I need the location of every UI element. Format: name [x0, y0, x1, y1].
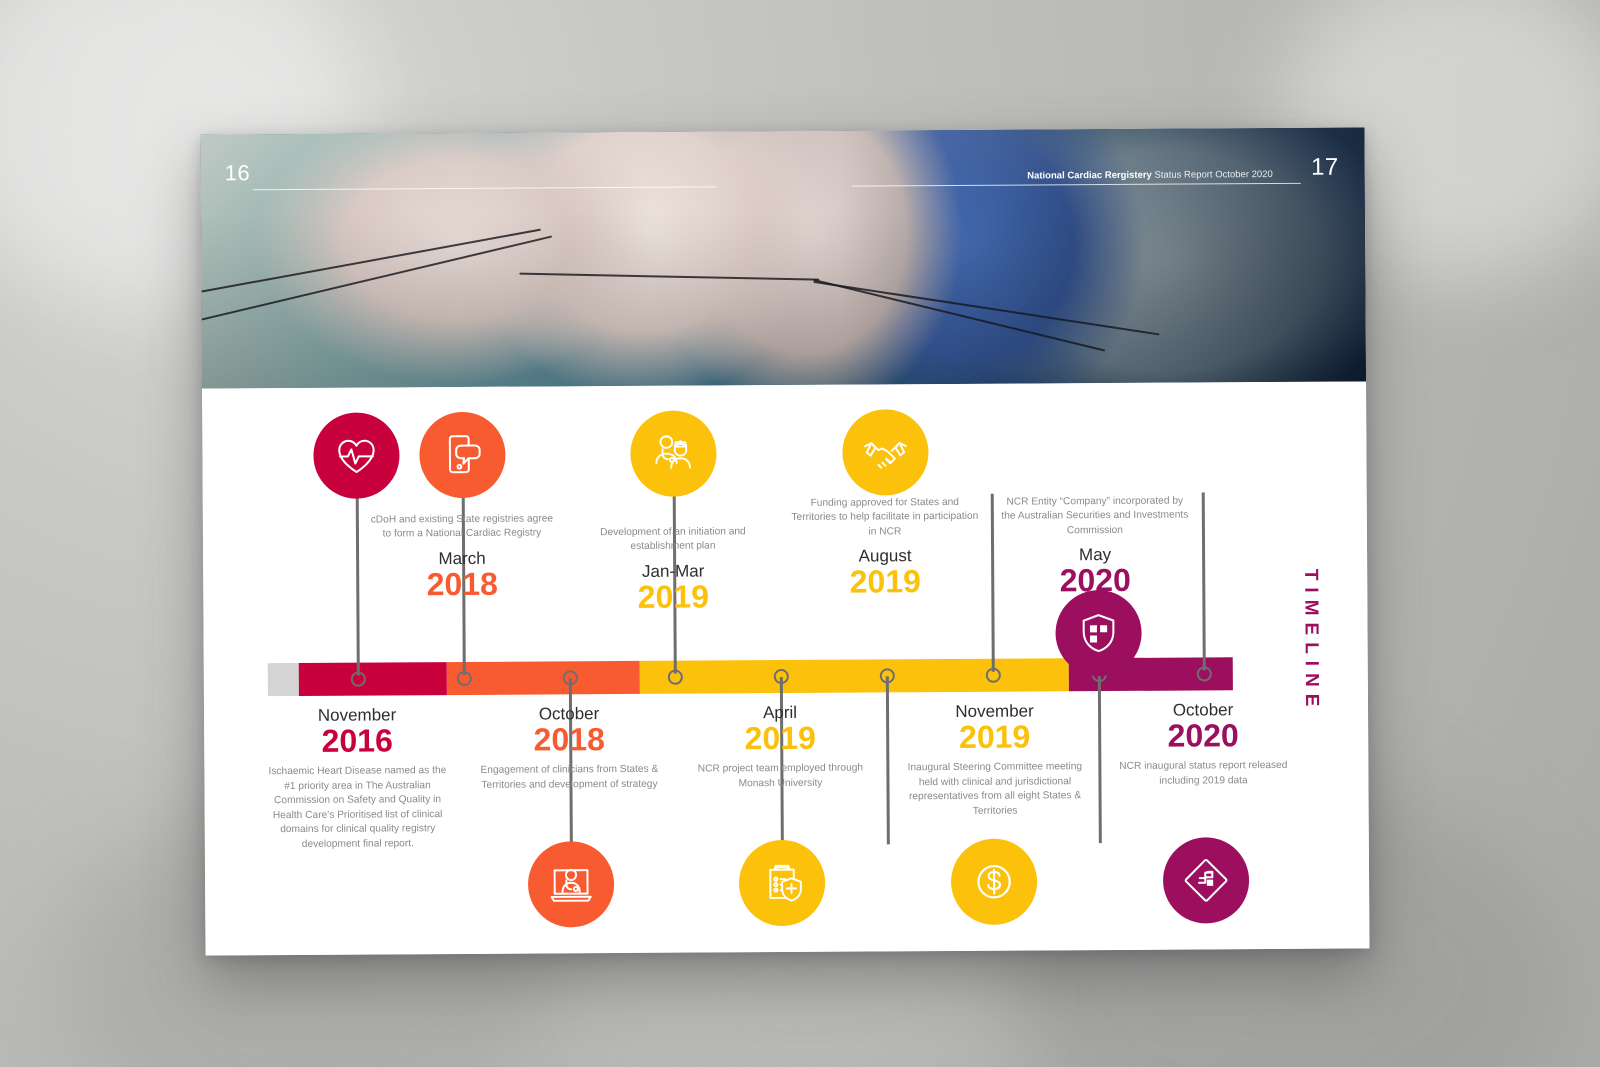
doctor-nurse-icon [648, 429, 698, 479]
stem-nov-2019 [991, 494, 995, 672]
telehealth-doctor-icon [546, 859, 596, 909]
milestone-description: Inaugural Steering Committee meeting hel… [897, 760, 1092, 819]
running-head: National Cardiac Rergistery Status Repor… [1027, 169, 1273, 181]
icon-bubble-mar-2018[interactable] [419, 412, 506, 499]
timeline-figure: TIMELINE [202, 381, 1369, 955]
milestone-year: 2018 [367, 567, 557, 602]
knob-nov-2016[interactable] [351, 672, 366, 687]
photo-overlay [201, 127, 1367, 388]
knob-aug-2019[interactable] [880, 668, 895, 683]
icon-bubble-aug-2019[interactable] [842, 409, 929, 496]
milestone-description: NCR project team employed through Monash… [685, 762, 875, 792]
milestone-may-2020: NCR Entity “Company” incorporated by the… [1000, 495, 1191, 599]
milestone-description: NCR Entity “Company” incorporated by the… [1000, 495, 1190, 540]
desk-backdrop: 16 National Cardiac Rergistery Status Re… [0, 0, 1600, 1067]
milestone-mar-2018: cDoH and existing State registries agree… [367, 512, 558, 601]
milestone-year: 2019 [790, 565, 980, 600]
milestone-description: Funding approved for States and Territor… [790, 496, 980, 541]
bar-segment-orange [447, 661, 640, 695]
milestone-year: 2019 [897, 720, 1092, 755]
report-page-spread: 16 National Cardiac Rergistery Status Re… [201, 127, 1370, 955]
page-number-right: 17 [1311, 154, 1339, 182]
icon-bubble-jan-mar-2019[interactable] [630, 410, 717, 497]
milestone-nov-2016: November 2016 Ischaemic Heart Disease na… [262, 705, 453, 852]
bar-segment-crimson [299, 662, 448, 696]
stem-oct-2020 [1202, 492, 1206, 670]
milestone-aug-2019: Funding approved for States and Territor… [790, 496, 981, 600]
milestone-year: 2020 [1108, 718, 1298, 753]
knob-nov-2019[interactable] [986, 668, 1001, 683]
milestone-year: 2020 [1000, 564, 1190, 599]
milestone-description: Engagement of clinicians from States & T… [474, 763, 664, 793]
page-number-left: 16 [225, 160, 251, 186]
milestone-description: Ischaemic Heart Disease named as the #1 … [262, 764, 453, 852]
heart-pulse-icon [331, 430, 381, 480]
milestone-oct-2020: October 2020 NCR inaugural status report… [1108, 700, 1299, 789]
bar-segment-cap [268, 663, 299, 696]
bar-segment-amber [640, 658, 1069, 694]
running-head-title: National Cardiac Rergistery [1027, 170, 1152, 182]
milestone-description: cDoH and existing State registries agree… [367, 512, 557, 542]
mobile-chat-icon [437, 430, 487, 480]
milestone-apr-2019: April 2019 NCR project team employed thr… [685, 702, 876, 791]
knob-jan-mar-2019[interactable] [668, 670, 683, 685]
hero-photo-banner: 16 National Cardiac Rergistery Status Re… [201, 127, 1367, 388]
milestone-year: 2019 [685, 721, 875, 756]
milestone-description: NCR inaugural status report released inc… [1108, 759, 1298, 789]
icon-bubble-oct-2020[interactable] [1163, 837, 1250, 924]
clipboard-shield-icon [757, 858, 807, 908]
shield-emblem-icon [1073, 608, 1123, 658]
running-head-subtitle: Status Report October 2020 [1152, 169, 1273, 181]
milestone-description: Development of an initiation and establi… [578, 525, 768, 555]
stem-nov-2016 [356, 498, 360, 676]
stem-aug-2019 [886, 676, 890, 844]
knob-oct-2018[interactable] [563, 670, 578, 685]
diamond-building-icon [1181, 855, 1231, 905]
icon-bubble-nov-2016[interactable] [313, 412, 400, 499]
icon-bubble-nov-2019[interactable] [951, 838, 1038, 925]
milestone-year: 2018 [474, 722, 664, 757]
knob-oct-2020[interactable] [1197, 666, 1212, 681]
milestone-year: 2016 [262, 724, 452, 759]
milestone-oct-2018: October 2018 Engagement of clinicians fr… [474, 704, 665, 793]
icon-bubble-apr-2019[interactable] [739, 840, 826, 927]
icon-bubble-may-2020[interactable] [1055, 590, 1142, 677]
dollar-coin-icon [969, 857, 1019, 907]
icon-bubble-oct-2018[interactable] [528, 841, 615, 928]
handshake-icon [860, 427, 910, 477]
milestone-jan-mar-2019: Development of an initiation and establi… [578, 525, 769, 614]
knob-mar-2018[interactable] [457, 671, 472, 686]
knob-apr-2019[interactable] [774, 669, 789, 684]
stem-may-2020 [1098, 675, 1102, 843]
milestone-nov-2019: November 2019 Inaugural Steering Committ… [897, 701, 1093, 819]
timeline-section-label: TIMELINE [1299, 569, 1322, 714]
milestone-year: 2019 [578, 580, 768, 615]
